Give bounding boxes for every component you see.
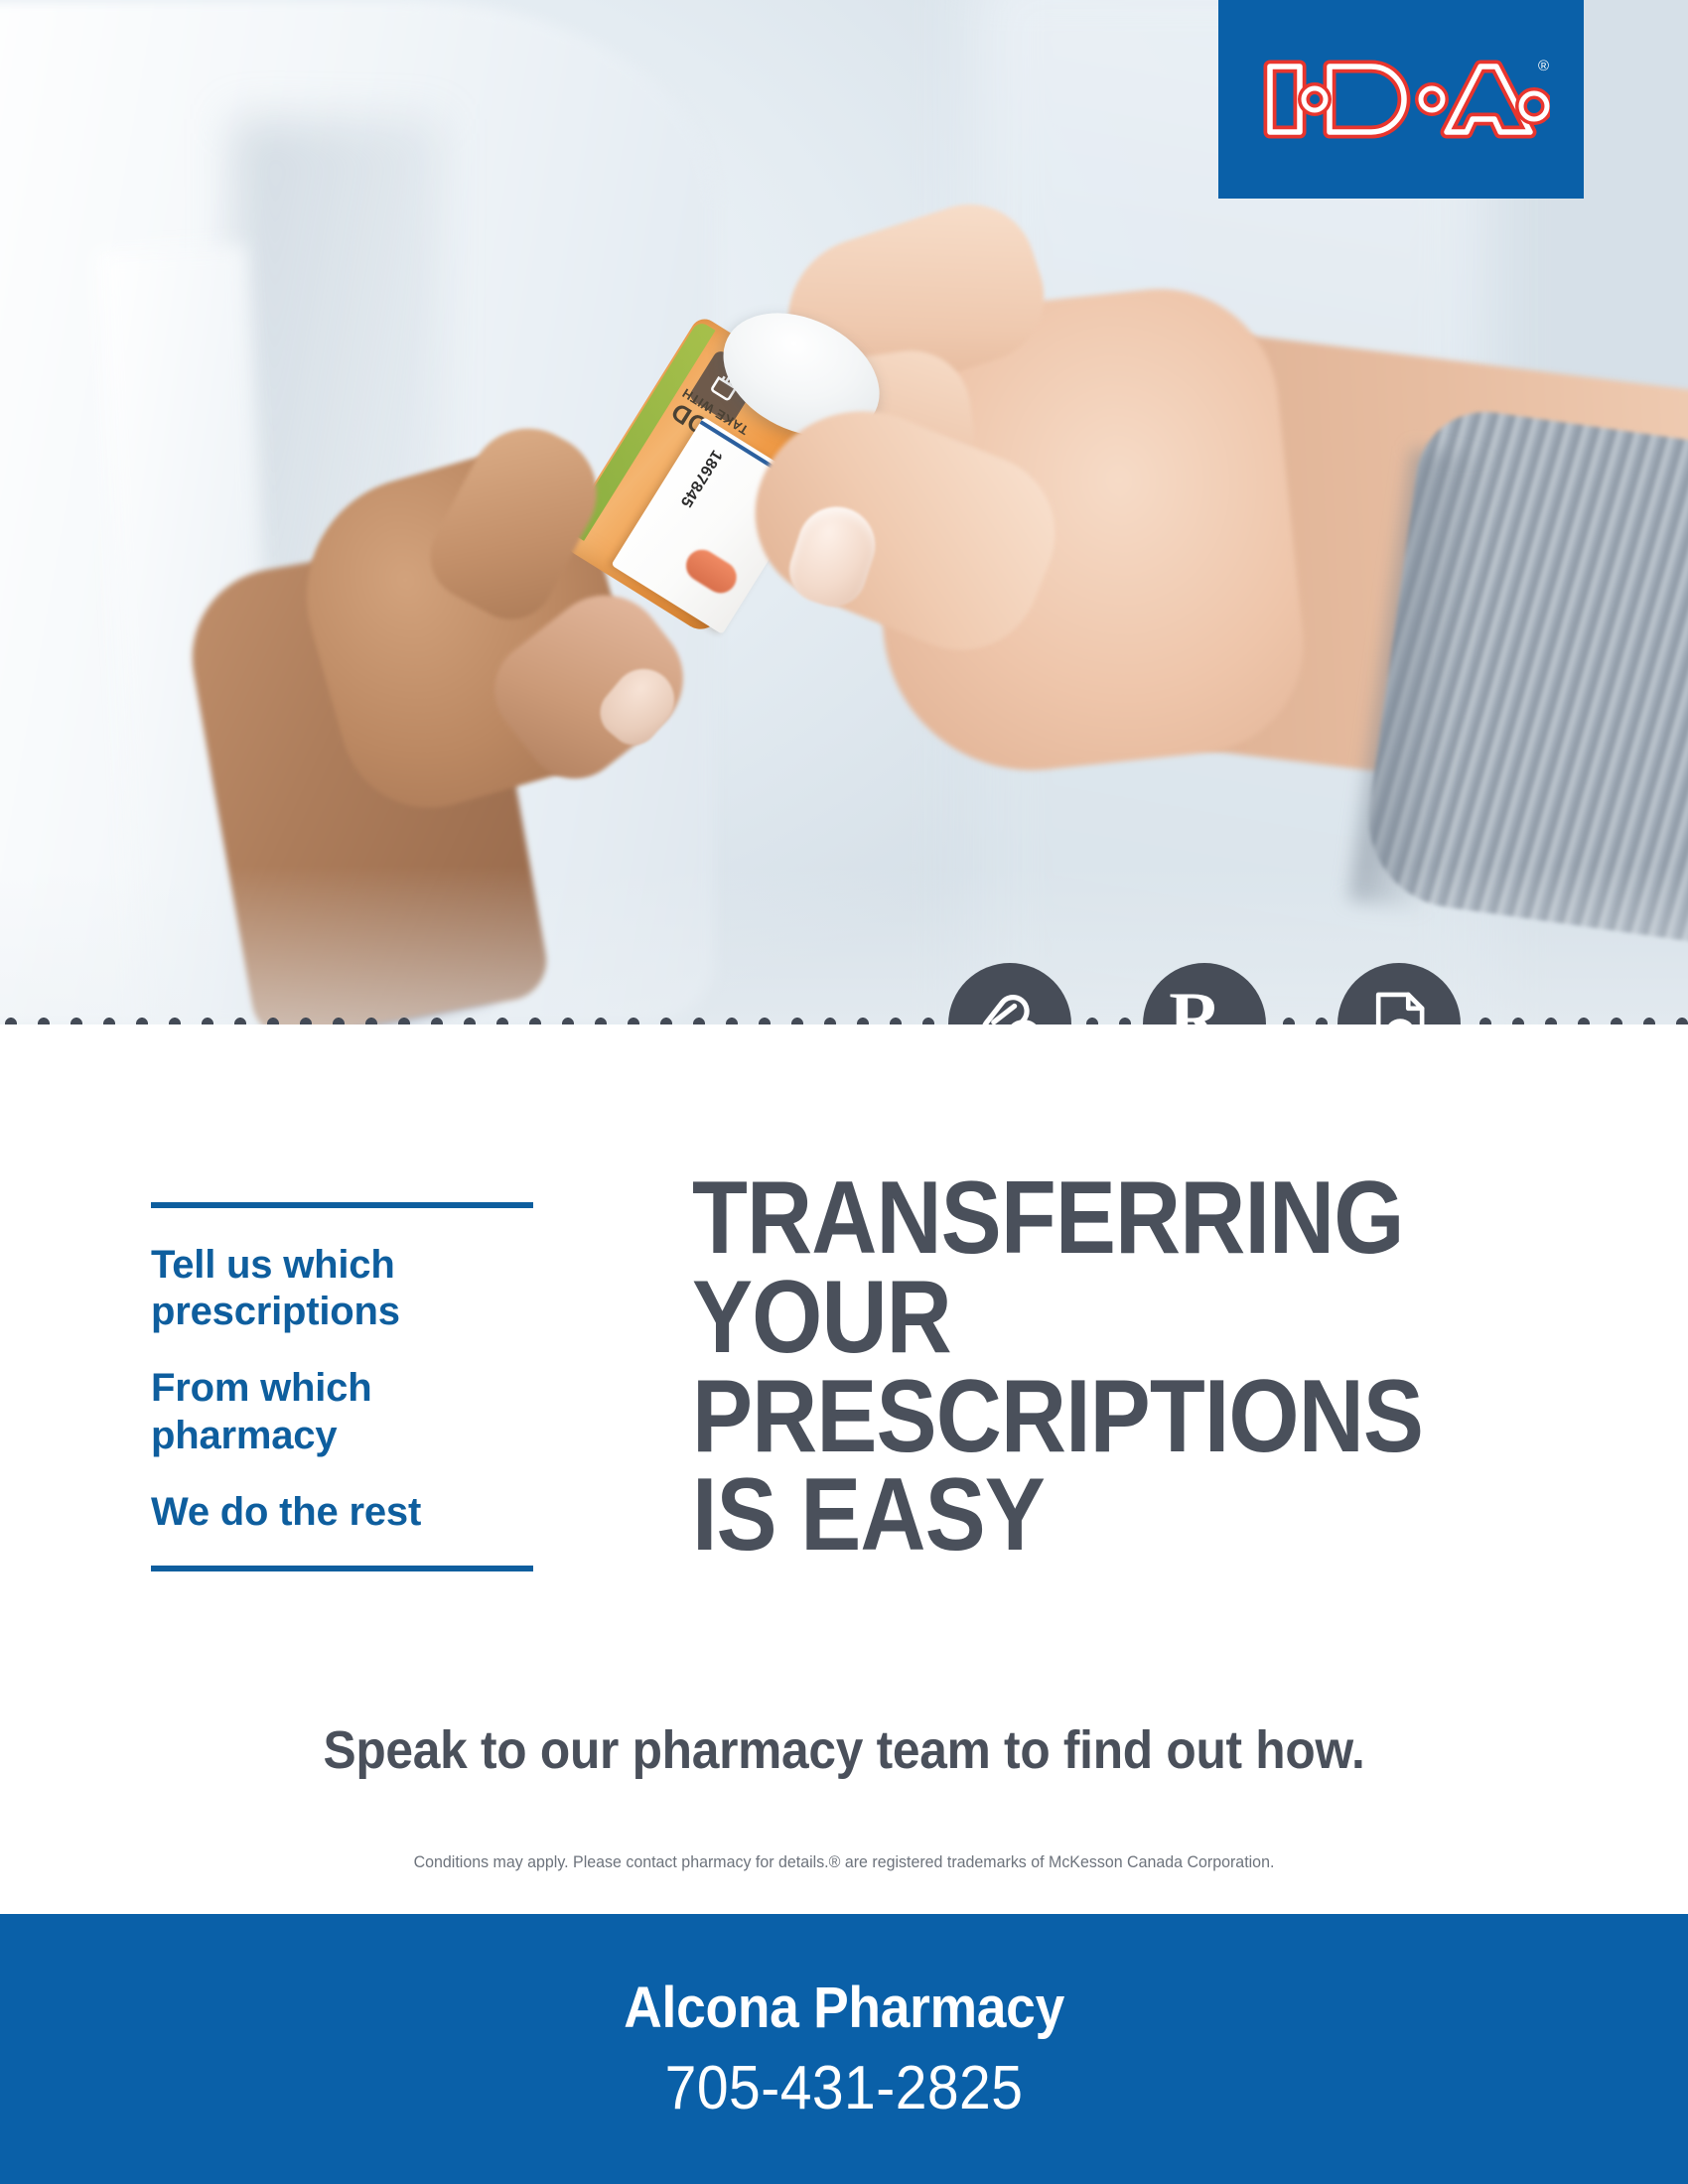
legal-disclaimer: Conditions may apply. Please contact pha…: [51, 1852, 1637, 1872]
sidebar-rule-top: [151, 1202, 533, 1208]
registered-trademark-icon: ®: [1538, 58, 1549, 74]
pharmacy-footer: Alcona Pharmacy 705-431-2825: [0, 1914, 1688, 2184]
headline-line-3: PRESCRIPTIONS: [692, 1368, 1426, 1467]
page-title: TRANSFERRING YOUR PRESCRIPTIONS IS EASY: [692, 1169, 1426, 1566]
headline-line-1: TRANSFERRING: [692, 1169, 1426, 1269]
step-item-2: From which pharmacy: [151, 1365, 538, 1458]
step-item-3: We do the rest: [151, 1489, 538, 1536]
step-item-1: Tell us which prescriptions: [151, 1242, 538, 1335]
headline-line-4: IS EASY: [692, 1466, 1426, 1566]
ida-logo: ®: [1218, 0, 1584, 199]
subheading: Speak to our pharmacy team to find out h…: [68, 1719, 1620, 1781]
sidebar-rule-bottom: [151, 1566, 533, 1571]
pharmacy-name: Alcona Pharmacy: [624, 1975, 1064, 2041]
ida-logo-mark: ®: [1252, 45, 1550, 154]
transfer-steps-list: Tell us which prescriptions From which p…: [151, 1202, 538, 1571]
headline-line-2: YOUR: [692, 1269, 1426, 1368]
pharmacy-phone[interactable]: 705-431-2825: [665, 2053, 1024, 2123]
